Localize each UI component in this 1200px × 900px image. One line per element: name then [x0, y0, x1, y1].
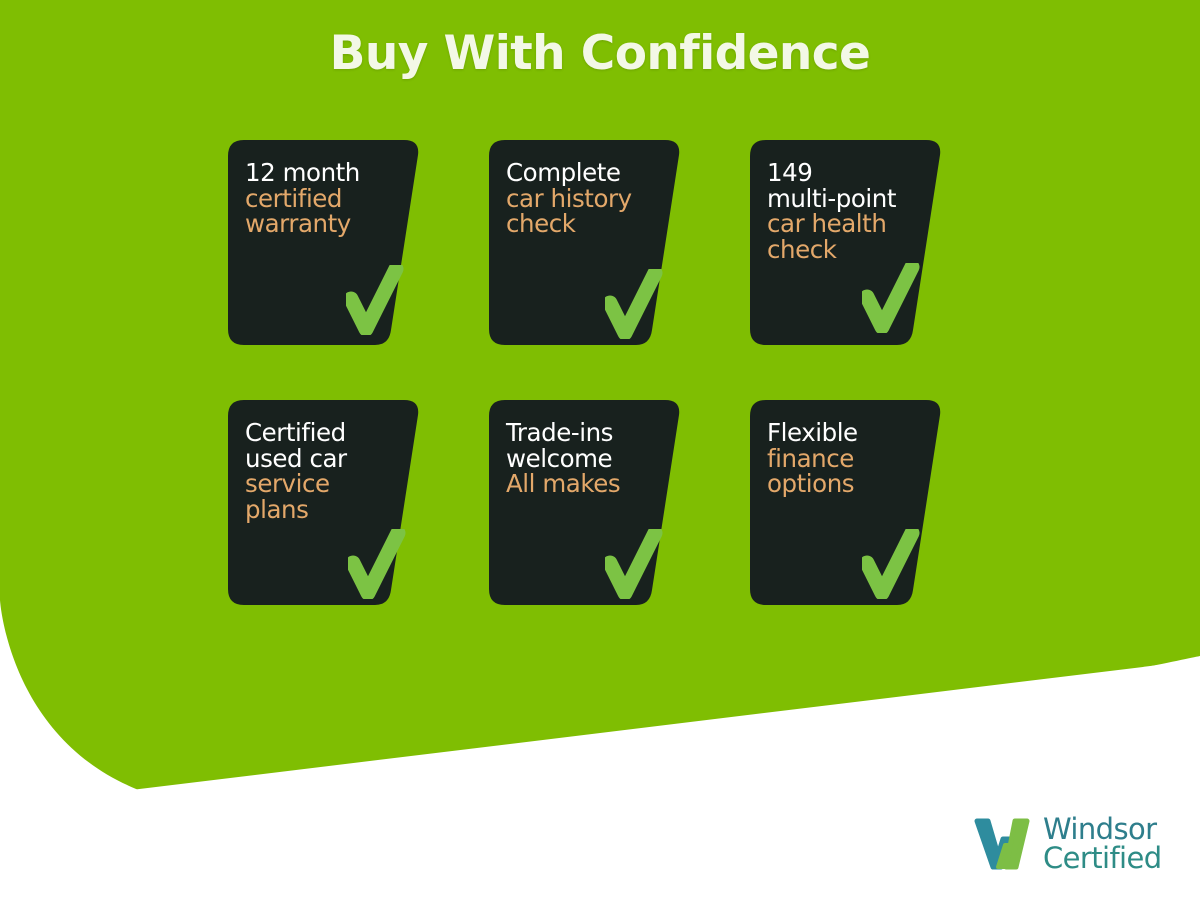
card-line: welcome	[506, 446, 666, 472]
card-text-block: Flexiblefinanceoptions	[767, 420, 927, 497]
green-check-icon	[862, 529, 920, 599]
logo-line-certified: Certified	[1043, 844, 1162, 873]
card-12-month-certified-warranty[interactable]: 12 monthcertifiedwarranty	[228, 140, 420, 345]
card-line: 149	[767, 160, 927, 186]
green-check-icon	[605, 269, 663, 339]
card-line: All makes	[506, 471, 666, 497]
card-line: plans	[245, 497, 405, 523]
card-line: car health	[767, 211, 927, 237]
card-line: Certified	[245, 420, 405, 446]
card-line: certified	[245, 186, 405, 212]
card-line: Trade-ins	[506, 420, 666, 446]
promo-banner: Buy With Confidence 12 monthcertifiedwar…	[0, 0, 1200, 900]
windsor-w-icon	[972, 815, 1034, 873]
green-check-icon	[348, 529, 406, 599]
feature-card-grid: 12 monthcertifiedwarrantyCompletecar his…	[228, 140, 973, 605]
card-line: multi-point	[767, 186, 927, 212]
card-trade-ins-welcome-all-makes[interactable]: Trade-inswelcomeAll makes	[489, 400, 681, 605]
card-line: service	[245, 471, 405, 497]
card-line: warranty	[245, 211, 405, 237]
card-text-block: 149multi-pointcar healthcheck	[767, 160, 927, 262]
card-line: car history	[506, 186, 666, 212]
card-complete-car-history-check[interactable]: Completecar historycheck	[489, 140, 681, 345]
logo-line-windsor: Windsor	[1043, 815, 1162, 844]
card-line: 12 month	[245, 160, 405, 186]
green-check-icon	[346, 265, 404, 335]
card-line: used car	[245, 446, 405, 472]
card-flexible-finance-options[interactable]: Flexiblefinanceoptions	[750, 400, 942, 605]
card-text-block: Certifiedused carserviceplans	[245, 420, 405, 522]
card-certified-used-car-service-plans[interactable]: Certifiedused carserviceplans	[228, 400, 420, 605]
card-line: Complete	[506, 160, 666, 186]
green-check-icon	[605, 529, 663, 599]
card-149-multi-point-car-health-check[interactable]: 149multi-pointcar healthcheck	[750, 140, 942, 345]
brand-logo[interactable]: Windsor Certified	[972, 808, 1162, 880]
green-check-icon	[862, 263, 920, 333]
card-line: options	[767, 471, 927, 497]
logo-wordmark: Windsor Certified	[1043, 815, 1162, 873]
card-text-block: 12 monthcertifiedwarranty	[245, 160, 405, 237]
card-text-block: Trade-inswelcomeAll makes	[506, 420, 666, 497]
card-line: Flexible	[767, 420, 927, 446]
card-line: check	[767, 237, 927, 263]
page-title: Buy With Confidence	[0, 26, 1200, 81]
card-line: check	[506, 211, 666, 237]
card-line: finance	[767, 446, 927, 472]
card-text-block: Completecar historycheck	[506, 160, 666, 237]
